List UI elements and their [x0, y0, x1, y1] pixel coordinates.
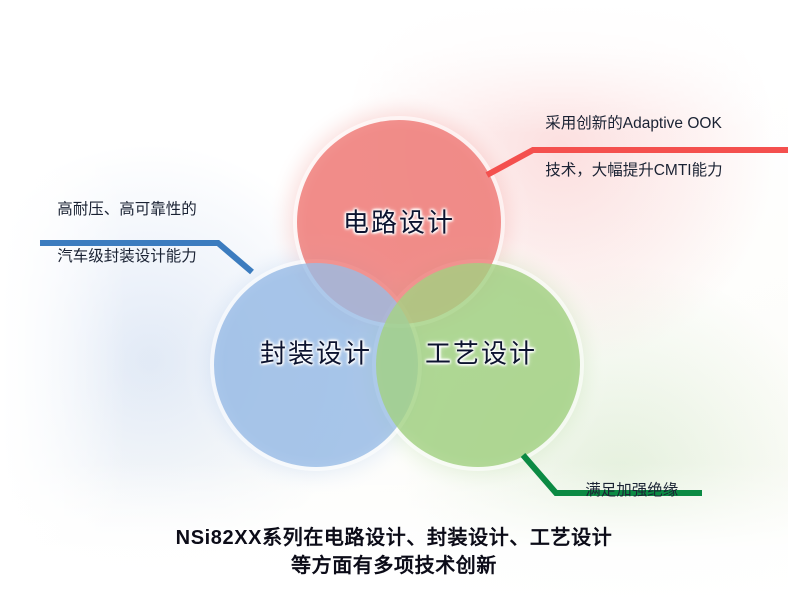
slide-caption: NSi82XX系列在电路设计、封装设计、工艺设计 等方面有多项技术创新 — [0, 524, 788, 581]
callout-topright-line2: 技术，大幅提升CMTI能力 — [545, 162, 722, 179]
caption-line-2: 等方面有多项技术创新 — [0, 552, 788, 580]
venn-circle-process[interactable] — [376, 263, 580, 467]
callout-left-line2: 汽车级封装设计能力 — [57, 248, 197, 265]
slide-canvas: 电路设计 封装设计 工艺设计 采用创新的Adaptive OOK 技术，大幅提升… — [0, 0, 788, 608]
caption-line-1: NSi82XX系列在电路设计、封装设计、工艺设计 — [0, 524, 788, 552]
callout-bottomright-line1: 满足加强绝缘 — [585, 482, 678, 499]
callout-left-line1: 高耐压、高可靠性的 — [57, 201, 197, 218]
callout-bottomright: 满足加强绝缘 — [568, 455, 678, 526]
callout-topright: 采用创新的Adaptive OOK 技术，大幅提升CMTI能力 — [528, 88, 723, 206]
callout-topright-line1: 采用创新的Adaptive OOK — [545, 115, 722, 132]
callout-left: 高耐压、高可靠性的 汽车级封装设计能力 — [40, 174, 197, 292]
